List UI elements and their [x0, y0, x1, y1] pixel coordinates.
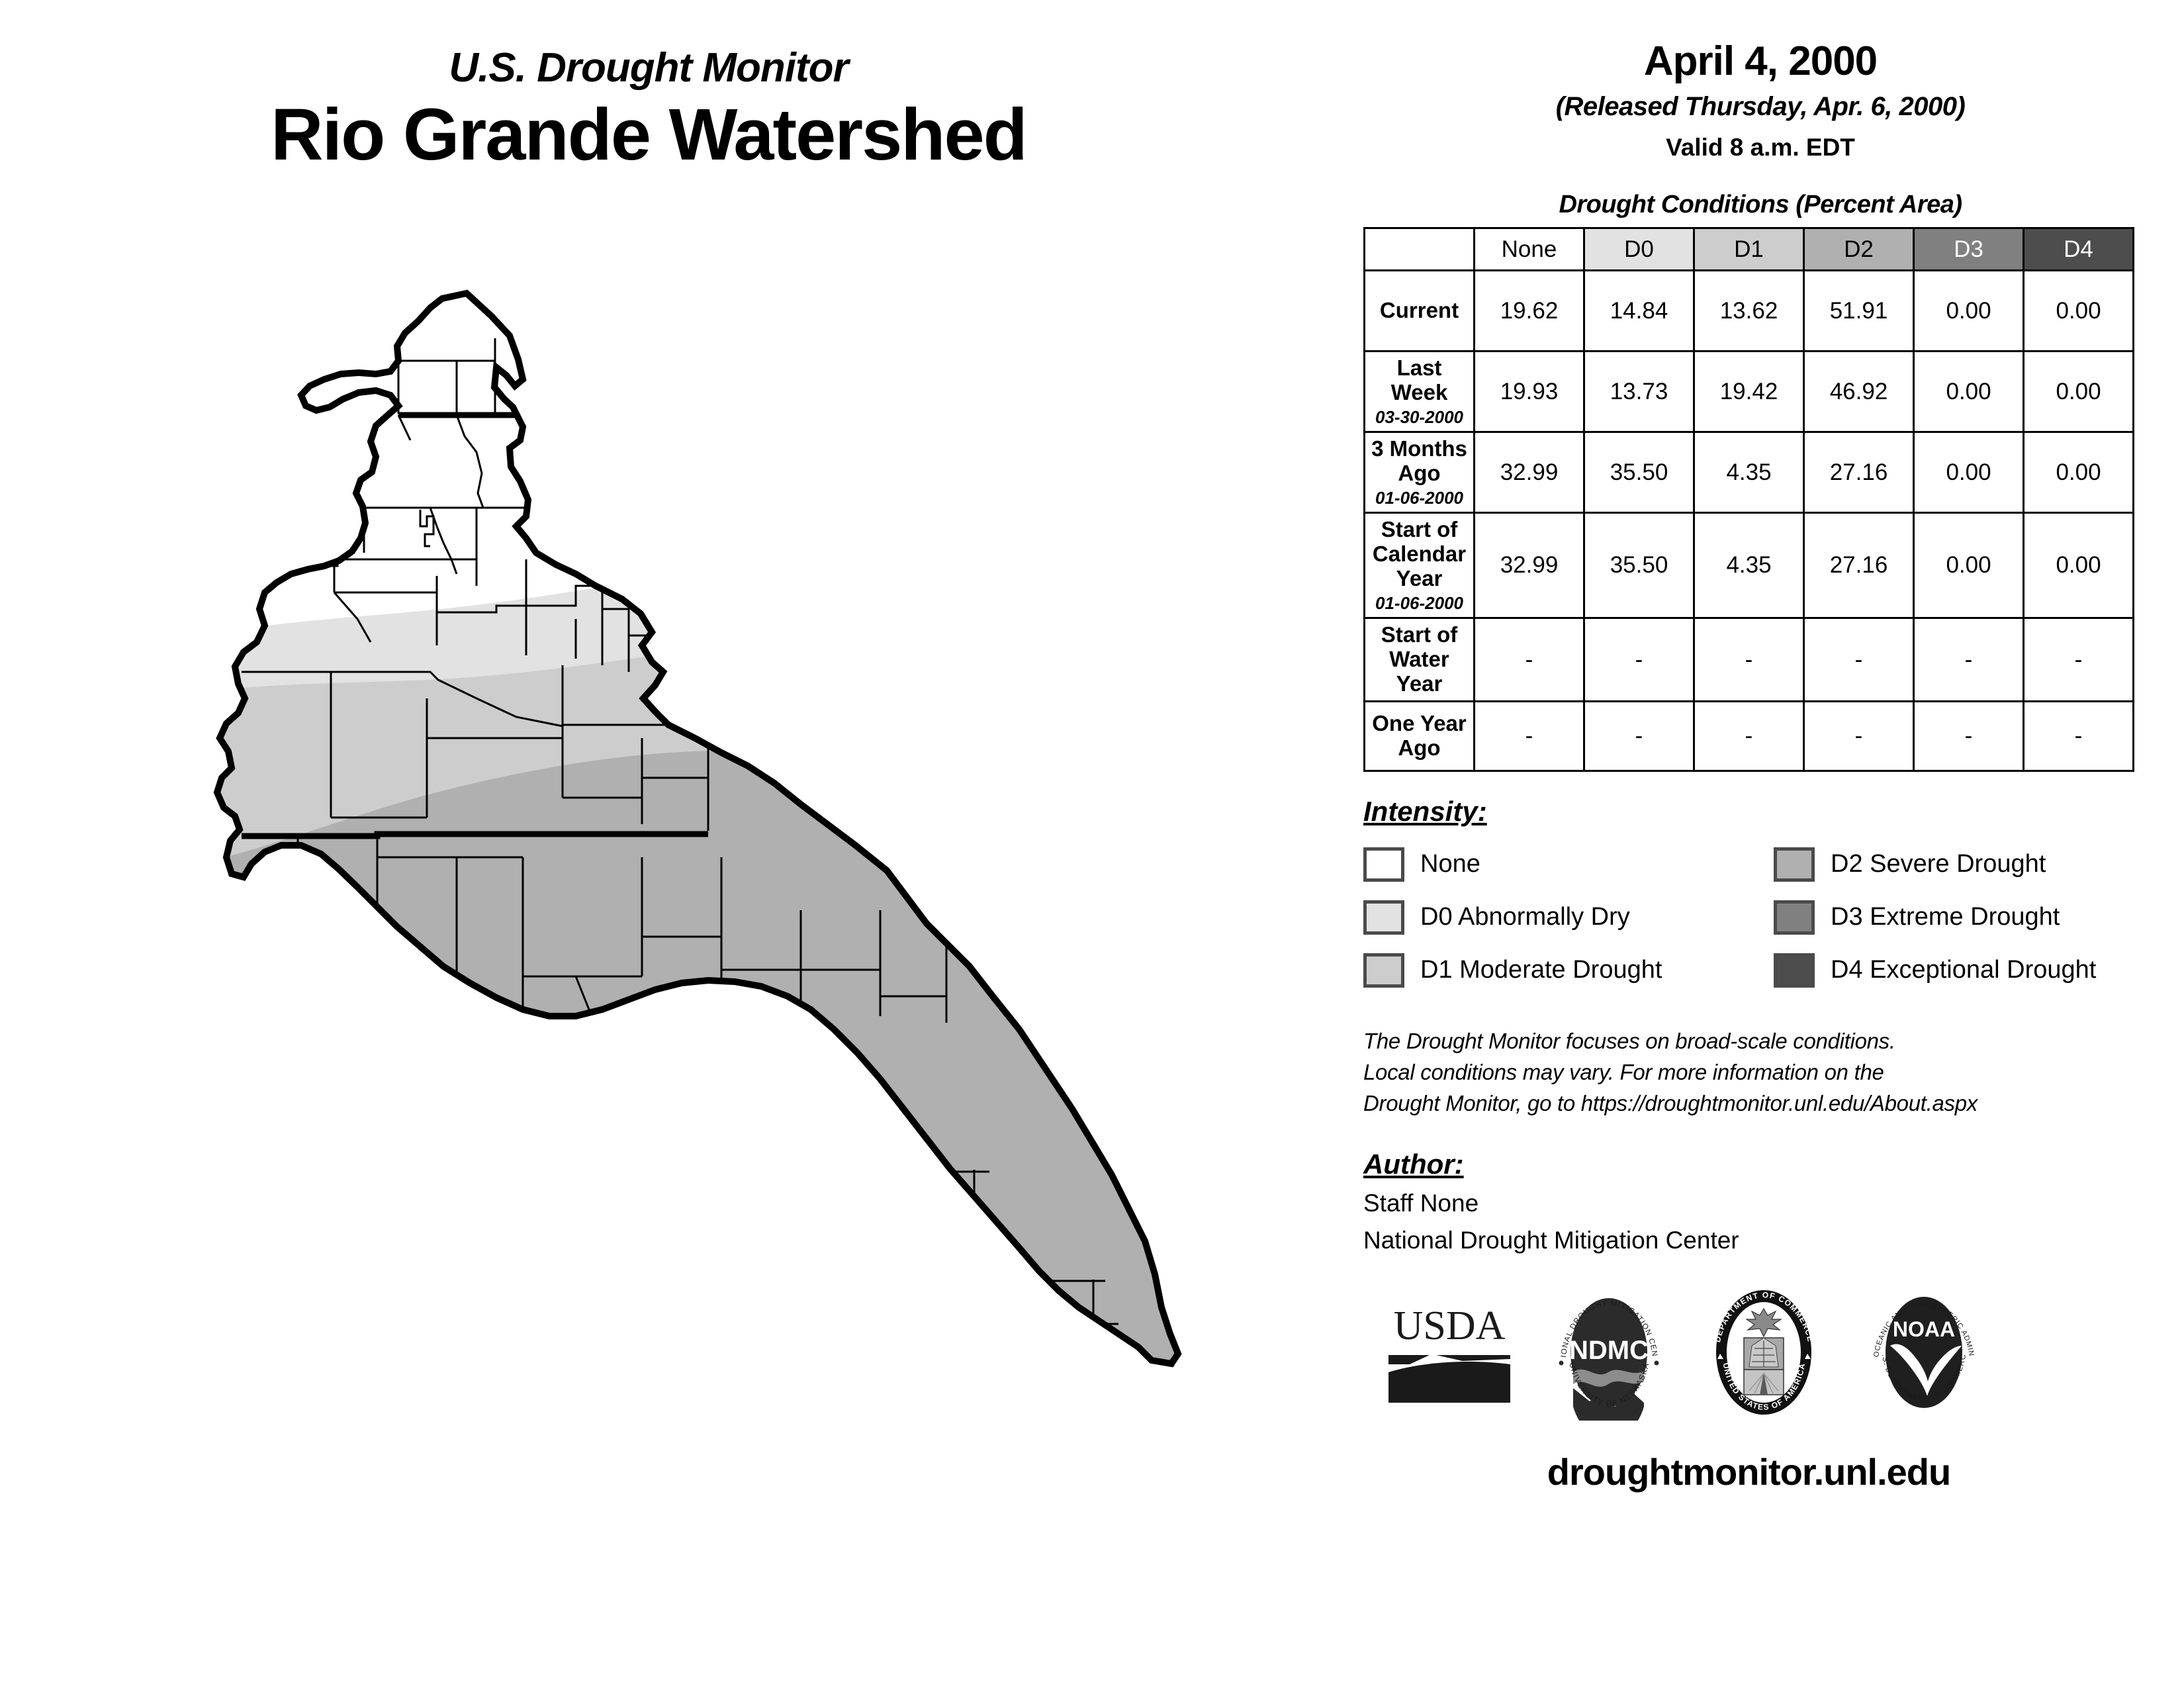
row-label-text: 3 Months Ago	[1371, 436, 1467, 485]
watershed-map	[165, 275, 1238, 1618]
row-label-text: One Year Ago	[1372, 711, 1467, 760]
col-header-d1: D1	[1694, 228, 1804, 271]
cell-3mo-d1: 4.35	[1694, 432, 1804, 513]
usda-logo-text: USDA	[1394, 1303, 1506, 1348]
cell-3mo-d0: 35.50	[1584, 432, 1694, 513]
author-name: Staff None	[1363, 1190, 2158, 1217]
cell-current-d2: 51.91	[1804, 271, 1914, 352]
report-date: April 4, 2000	[1363, 40, 2158, 83]
disclaimer-line-1: The Drought Monitor focuses on broad-sca…	[1363, 1026, 2158, 1057]
cell-current-d1: 13.62	[1694, 271, 1804, 352]
disclaimer: The Drought Monitor focuses on broad-sca…	[1363, 1026, 2158, 1119]
intensity-heading: Intensity:	[1363, 796, 2158, 827]
cell-current-d0: 14.84	[1584, 271, 1694, 352]
band-d2	[165, 751, 1238, 1618]
cell-1yr-d1: -	[1694, 701, 1804, 771]
cell-lastweek-d4: 0.00	[2024, 352, 2134, 432]
cell-current-d3: 0.00	[1914, 271, 2024, 352]
doc-logo: DEPARTMENT OF COMMERCE UNITED STATES OF …	[1703, 1285, 1825, 1424]
row-label-text: Start ofWater Year	[1381, 622, 1458, 696]
report-valid-time: Valid 8 a.m. EDT	[1363, 134, 2158, 162]
legend-swatch-d0-icon	[1363, 900, 1404, 935]
row-label-date: 01-06-2000	[1368, 594, 1471, 613]
legend-label-d4: D4 Exceptional Drought	[1831, 956, 2096, 984]
legend-swatch-d3-icon	[1774, 900, 1815, 935]
cell-lastweek-d3: 0.00	[1914, 352, 2024, 432]
right-panel: April 4, 2000 (Released Thursday, Apr. 6…	[1363, 40, 2158, 1493]
row-label-one-year-ago: One Year Ago	[1365, 701, 1475, 771]
legend-label-d3: D3 Extreme Drought	[1831, 903, 2060, 931]
legend-item-d0: D0 Abnormally Dry	[1363, 891, 1774, 944]
cell-swy-d0: -	[1584, 618, 1694, 702]
author-heading: Author:	[1363, 1149, 2158, 1180]
legend-item-d4: D4 Exceptional Drought	[1774, 944, 2184, 997]
cell-current-none: 19.62	[1475, 271, 1584, 352]
col-header-d2: D2	[1804, 228, 1914, 271]
drought-conditions-table: None D0 D1 D2 D3 D4 Current 19.62 14.84 …	[1363, 227, 2134, 772]
cell-3mo-d3: 0.00	[1914, 432, 2024, 513]
intensity-legend: None D2 Severe Drought D0 Abnormally Dry…	[1363, 838, 2158, 997]
table-row: 3 Months Ago 01-06-2000 32.99 35.50 4.35…	[1365, 432, 2134, 513]
cell-1yr-d4: -	[2024, 701, 2134, 771]
row-label-text: Last Week	[1391, 355, 1448, 404]
legend-label-none: None	[1420, 850, 1480, 878]
noaa-logo: NOAA NATIONAL OCEANIC AND ATMOSPHERIC AD…	[1861, 1285, 1987, 1424]
table-header-row: None D0 D1 D2 D3 D4	[1365, 228, 2134, 271]
table-row: One Year Ago - - - - - -	[1365, 701, 2134, 771]
col-header-none: None	[1475, 228, 1584, 271]
legend-item-none: None	[1363, 838, 1774, 891]
legend-swatch-d4-icon	[1774, 953, 1815, 988]
legend-label-d2: D2 Severe Drought	[1831, 850, 2046, 878]
cell-swy-d2: -	[1804, 618, 1914, 702]
cell-scy-d4: 0.00	[2024, 513, 2134, 618]
table-row: Start ofCalendar Year 01-06-2000 32.99 3…	[1365, 513, 2134, 618]
cell-lastweek-d0: 13.73	[1584, 352, 1694, 432]
legend-swatch-d2-icon	[1774, 847, 1815, 882]
cell-1yr-d3: -	[1914, 701, 2024, 771]
col-header-d4: D4	[2024, 228, 2134, 271]
table-row: Last Week 03-30-2000 19.93 13.73 19.42 4…	[1365, 352, 2134, 432]
cell-1yr-d2: -	[1804, 701, 1914, 771]
row-label-text: Start ofCalendar Year	[1373, 517, 1466, 590]
cell-current-d4: 0.00	[2024, 271, 2134, 352]
row-label-date: 01-06-2000	[1368, 489, 1471, 508]
row-label-current: Current	[1365, 271, 1475, 352]
cell-scy-d1: 4.35	[1694, 513, 1804, 618]
table-row: Start ofWater Year - - - - - -	[1365, 618, 2134, 702]
cell-scy-d3: 0.00	[1914, 513, 2024, 618]
row-label-date: 03-30-2000	[1368, 408, 1471, 427]
title-block: U.S. Drought Monitor Rio Grande Watershe…	[79, 46, 1218, 175]
drought-monitor-page: U.S. Drought Monitor Rio Grande Watershe…	[0, 0, 2184, 1688]
legend-label-d0: D0 Abnormally Dry	[1420, 903, 1630, 931]
table-row: Current 19.62 14.84 13.62 51.91 0.00 0.0…	[1365, 271, 2134, 352]
cell-3mo-d4: 0.00	[2024, 432, 2134, 513]
disclaimer-line-3: Drought Monitor, go to https://droughtmo…	[1363, 1088, 2158, 1119]
cell-swy-d3: -	[1914, 618, 2024, 702]
cell-1yr-d0: -	[1584, 701, 1694, 771]
cell-swy-none: -	[1475, 618, 1584, 702]
row-label-last-week: Last Week 03-30-2000	[1365, 352, 1475, 432]
legend-swatch-d1-icon	[1363, 953, 1404, 988]
row-label-start-water-year: Start ofWater Year	[1365, 618, 1475, 702]
cell-3mo-none: 32.99	[1475, 432, 1584, 513]
cell-scy-d0: 35.50	[1584, 513, 1694, 618]
author-organization: National Drought Mitigation Center	[1363, 1227, 2158, 1254]
cell-scy-none: 32.99	[1475, 513, 1584, 618]
cell-swy-d4: -	[2024, 618, 2134, 702]
legend-item-d3: D3 Extreme Drought	[1774, 891, 2184, 944]
usda-logo: USDA	[1383, 1298, 1516, 1411]
ndmc-logo: NDMC NATIONAL DROUGHT MITIGATION CENTER …	[1551, 1285, 1667, 1424]
ndmc-logo-text: NDMC	[1569, 1336, 1649, 1365]
cell-lastweek-d1: 19.42	[1694, 352, 1804, 432]
cell-scy-d2: 27.16	[1804, 513, 1914, 618]
table-caption: Drought Conditions (Percent Area)	[1363, 191, 2158, 219]
legend-label-d1: D1 Moderate Drought	[1420, 956, 1662, 984]
map-drought-bands	[165, 275, 1238, 1618]
cell-1yr-none: -	[1475, 701, 1584, 771]
footer-url[interactable]: droughtmonitor.unl.edu	[1363, 1450, 2134, 1493]
row-label-3-months-ago: 3 Months Ago 01-06-2000	[1365, 432, 1475, 513]
agency-logos: USDA NDMC	[1363, 1285, 2158, 1424]
cell-3mo-d2: 27.16	[1804, 432, 1914, 513]
legend-item-d2: D2 Severe Drought	[1774, 838, 2184, 891]
page-title: Rio Grande Watershed	[79, 96, 1218, 175]
report-released: (Released Thursday, Apr. 6, 2000)	[1363, 92, 2158, 122]
disclaimer-line-2: Local conditions may vary. For more info…	[1363, 1057, 2158, 1088]
noaa-logo-text: NOAA	[1893, 1317, 1955, 1341]
legend-swatch-none-icon	[1363, 847, 1404, 882]
col-header-d0: D0	[1584, 228, 1694, 271]
cell-swy-d1: -	[1694, 618, 1804, 702]
col-header-d3: D3	[1914, 228, 2024, 271]
cell-lastweek-d2: 46.92	[1804, 352, 1914, 432]
row-label-text: Current	[1380, 298, 1459, 322]
row-label-start-calendar-year: Start ofCalendar Year 01-06-2000	[1365, 513, 1475, 618]
page-subtitle: U.S. Drought Monitor	[79, 46, 1218, 89]
table-corner-cell	[1365, 228, 1475, 271]
legend-item-d1: D1 Moderate Drought	[1363, 944, 1774, 997]
cell-lastweek-none: 19.93	[1475, 352, 1584, 432]
